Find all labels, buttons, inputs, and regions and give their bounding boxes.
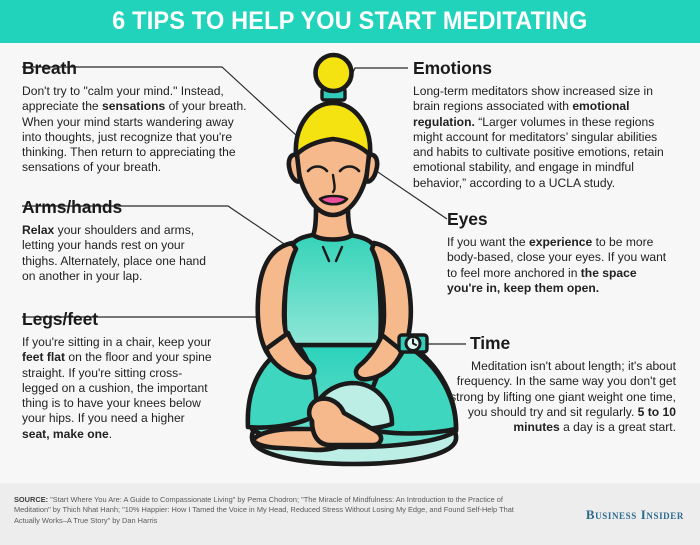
- callout-body-arms-hands: Relax your shoulders and arms, letting y…: [22, 223, 217, 284]
- callout-body-time: Meditation isn't about length; it's abou…: [448, 359, 676, 435]
- callout-heading-eyes: Eyes: [447, 209, 672, 230]
- source-label: SOURCE:: [14, 495, 48, 504]
- callout-time: Time Meditation isn't about length; it's…: [448, 333, 676, 435]
- mouth: [320, 196, 347, 204]
- source-credit: SOURCE: "Start Where You Are: A Guide to…: [14, 495, 514, 526]
- callout-heading-arms-hands: Arms/hands: [22, 197, 217, 218]
- callout-heading-time: Time: [470, 333, 676, 354]
- infographic-root: 6 TIPS TO HELP YOU START MEDITATING: [0, 0, 700, 545]
- callout-heading-legs-feet: Legs/feet: [22, 309, 212, 330]
- left-ear: [289, 155, 300, 182]
- source-text: "Start Where You Are: A Guide to Compass…: [14, 495, 514, 525]
- business-insider-logo: Business Insider: [586, 507, 684, 523]
- nose: [333, 175, 335, 192]
- callout-breath: Breath Don't try to "calm your mind." In…: [22, 58, 247, 176]
- callout-body-emotions: Long-term meditators show increased size…: [413, 84, 675, 191]
- header-banner: 6 TIPS TO HELP YOU START MEDITATING: [0, 0, 700, 43]
- callout-body-breath: Don't try to "calm your mind." Instead, …: [22, 84, 247, 176]
- callout-arms-hands: Arms/hands Relax your shoulders and arms…: [22, 197, 217, 284]
- callout-heading-emotions: Emotions: [413, 58, 675, 79]
- hair-bun: [316, 55, 352, 91]
- wristwatch: [399, 335, 427, 352]
- callout-emotions: Emotions Long-term meditators show incre…: [413, 58, 675, 191]
- page-title: 6 TIPS TO HELP YOU START MEDITATING: [112, 7, 587, 36]
- footer-bar: SOURCE: "Start Where You Are: A Guide to…: [0, 483, 700, 545]
- callout-legs-feet: Legs/feet If you're sitting in a chair, …: [22, 309, 212, 442]
- tank-top: [285, 234, 381, 345]
- callout-heading-breath: Breath: [22, 58, 247, 79]
- callout-body-legs-feet: If you're sitting in a chair, keep your …: [22, 335, 212, 442]
- callout-eyes: Eyes If you want the experience to be mo…: [447, 209, 672, 296]
- callout-body-eyes: If you want the experience to be more bo…: [447, 235, 672, 296]
- right-ear: [366, 155, 377, 182]
